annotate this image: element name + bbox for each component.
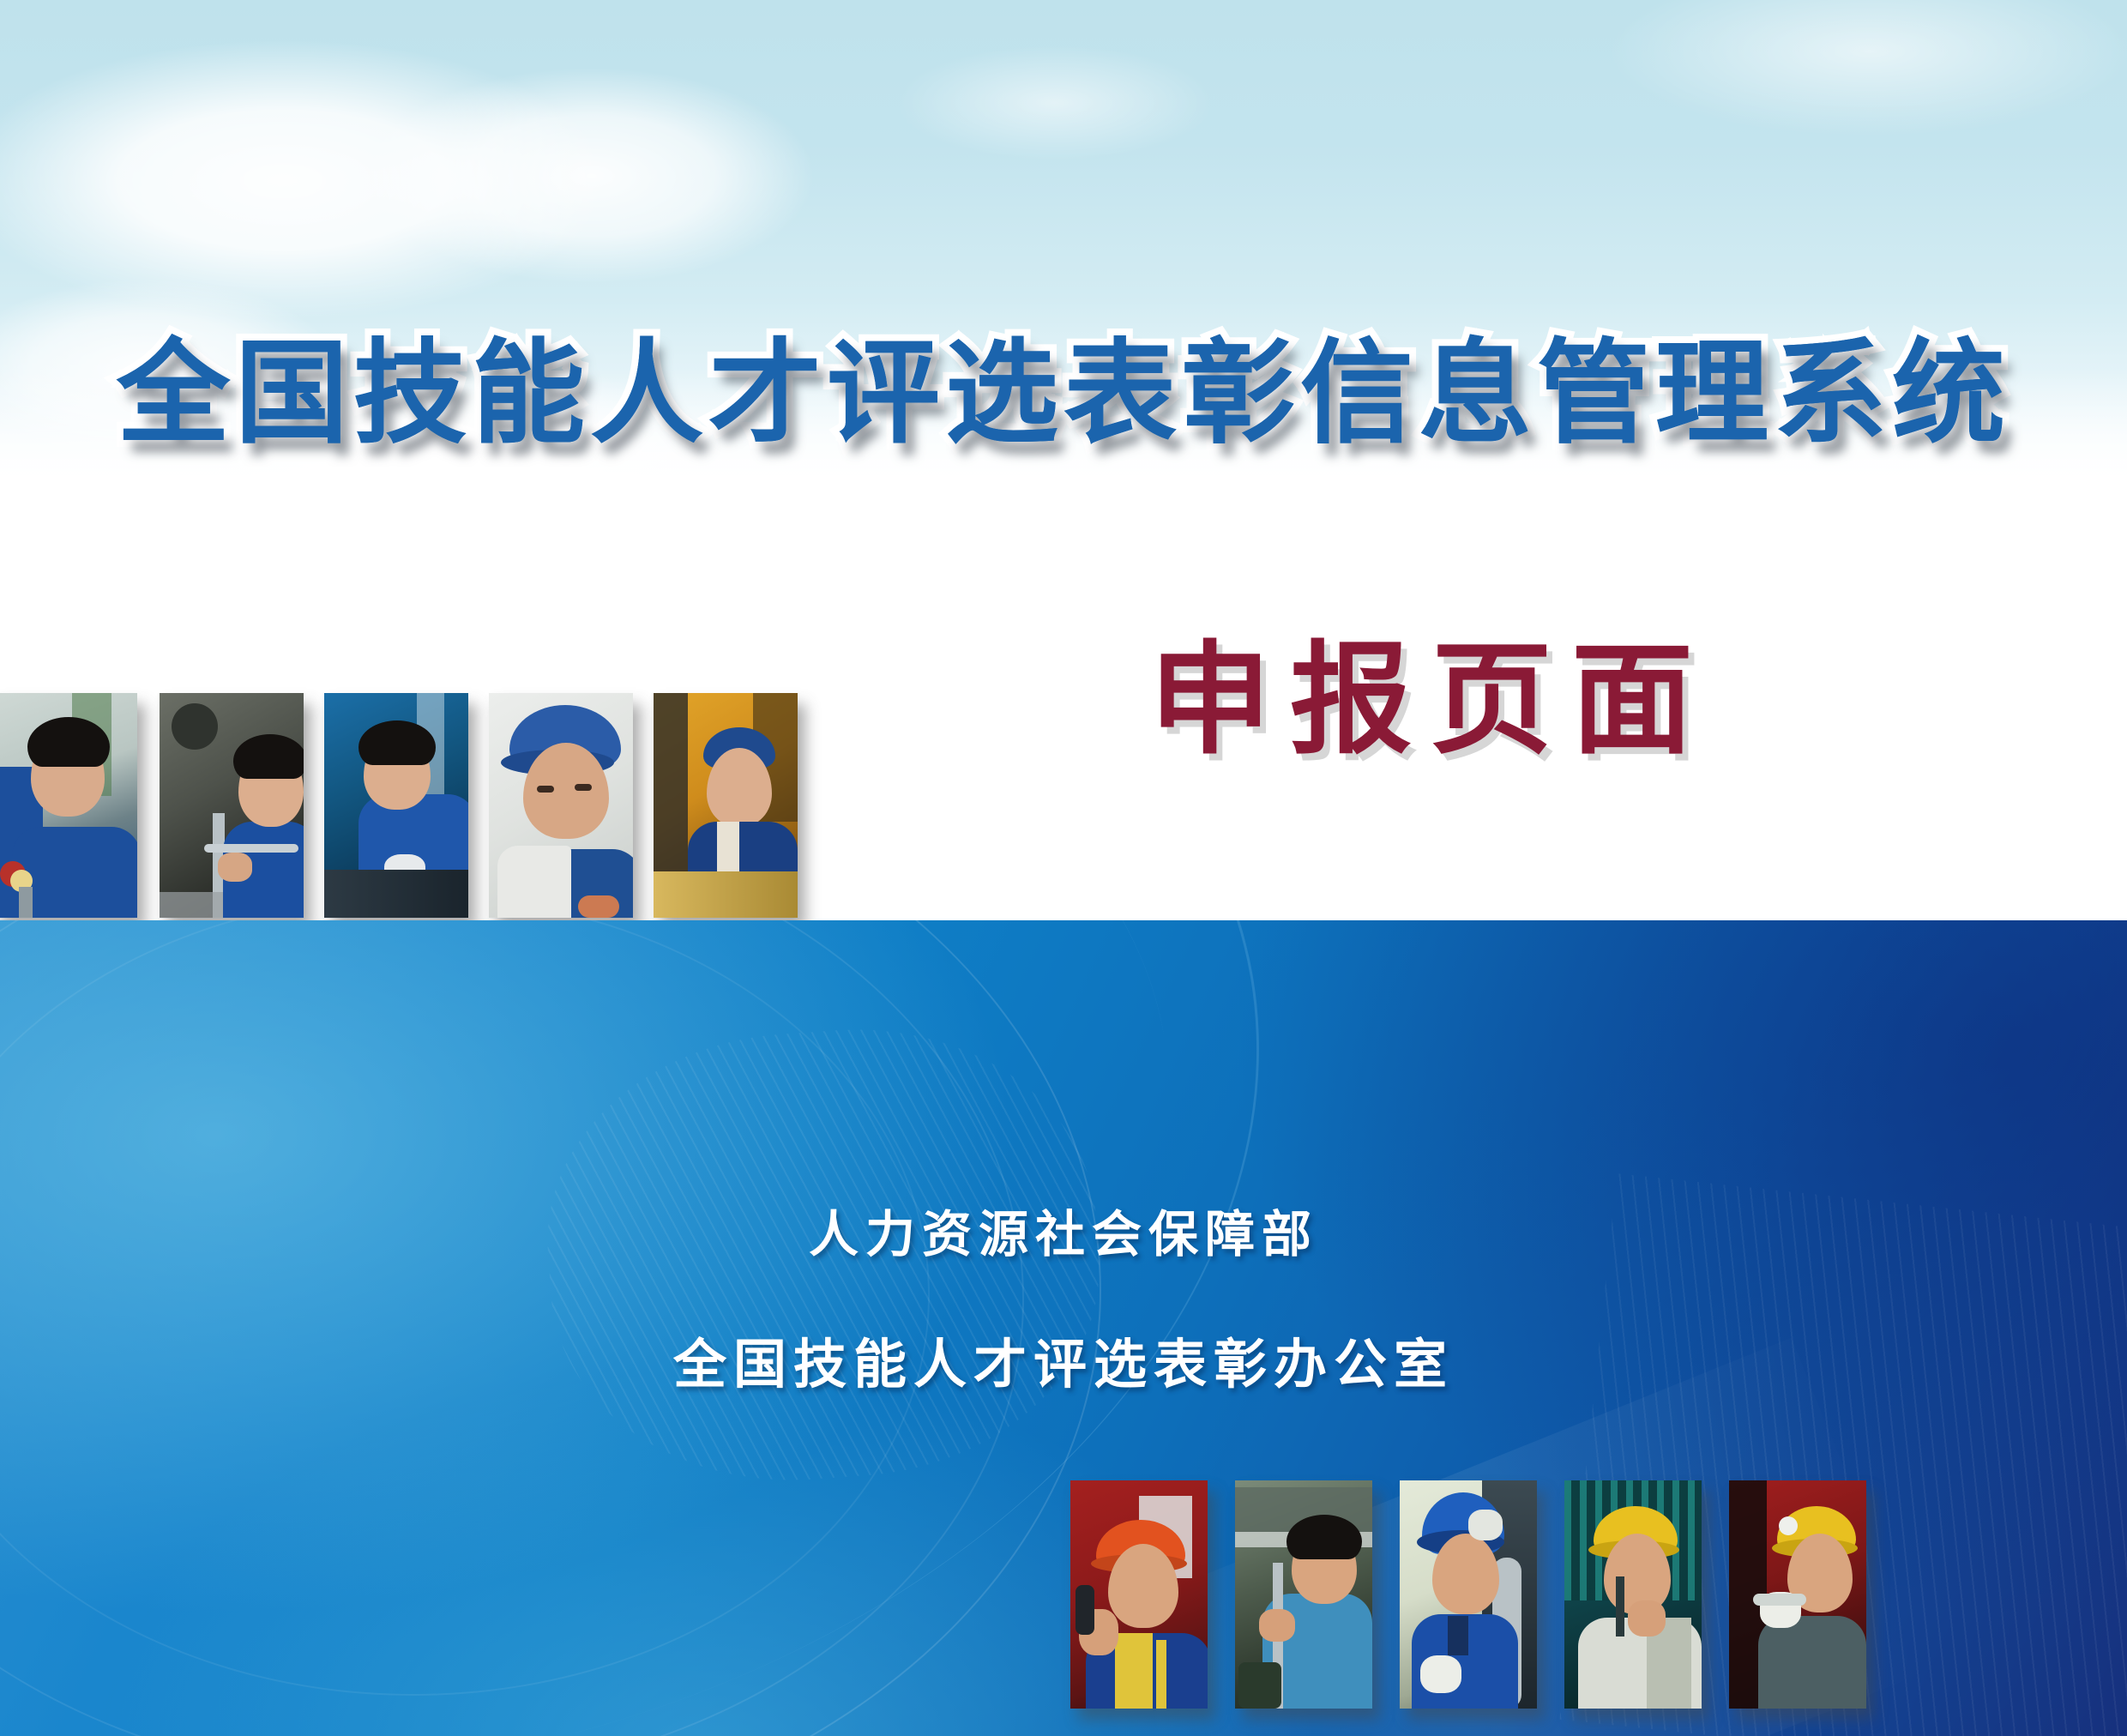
worker-photo-4 [489, 693, 633, 918]
worker-photo-9 [1564, 1480, 1702, 1709]
organization-name-line2: 全国技能人才评选表彰办公室 [0, 1321, 2127, 1398]
worker-photo-2 [160, 693, 304, 918]
worker-photo-5 [654, 693, 798, 918]
worker-photo-3 [324, 693, 468, 918]
worker-photo-10 [1729, 1480, 1866, 1709]
slide-subtitle: 申报页面 [1149, 639, 2007, 761]
worker-photo-6 [1070, 1480, 1208, 1709]
worker-photo-1 [0, 693, 137, 918]
organization-name-line1: 人力资源社会保障部 [0, 1194, 2127, 1266]
worker-photo-7 [1235, 1480, 1372, 1709]
page-title: 全国技能人才评选表彰信息管理系统 [0, 302, 2127, 466]
presentation-slide: 全国技能人才评选表彰信息管理系统 全国技能人才评选表彰信息管理系统 申报页面 [0, 0, 2127, 1736]
worker-photo-8 [1400, 1480, 1537, 1709]
